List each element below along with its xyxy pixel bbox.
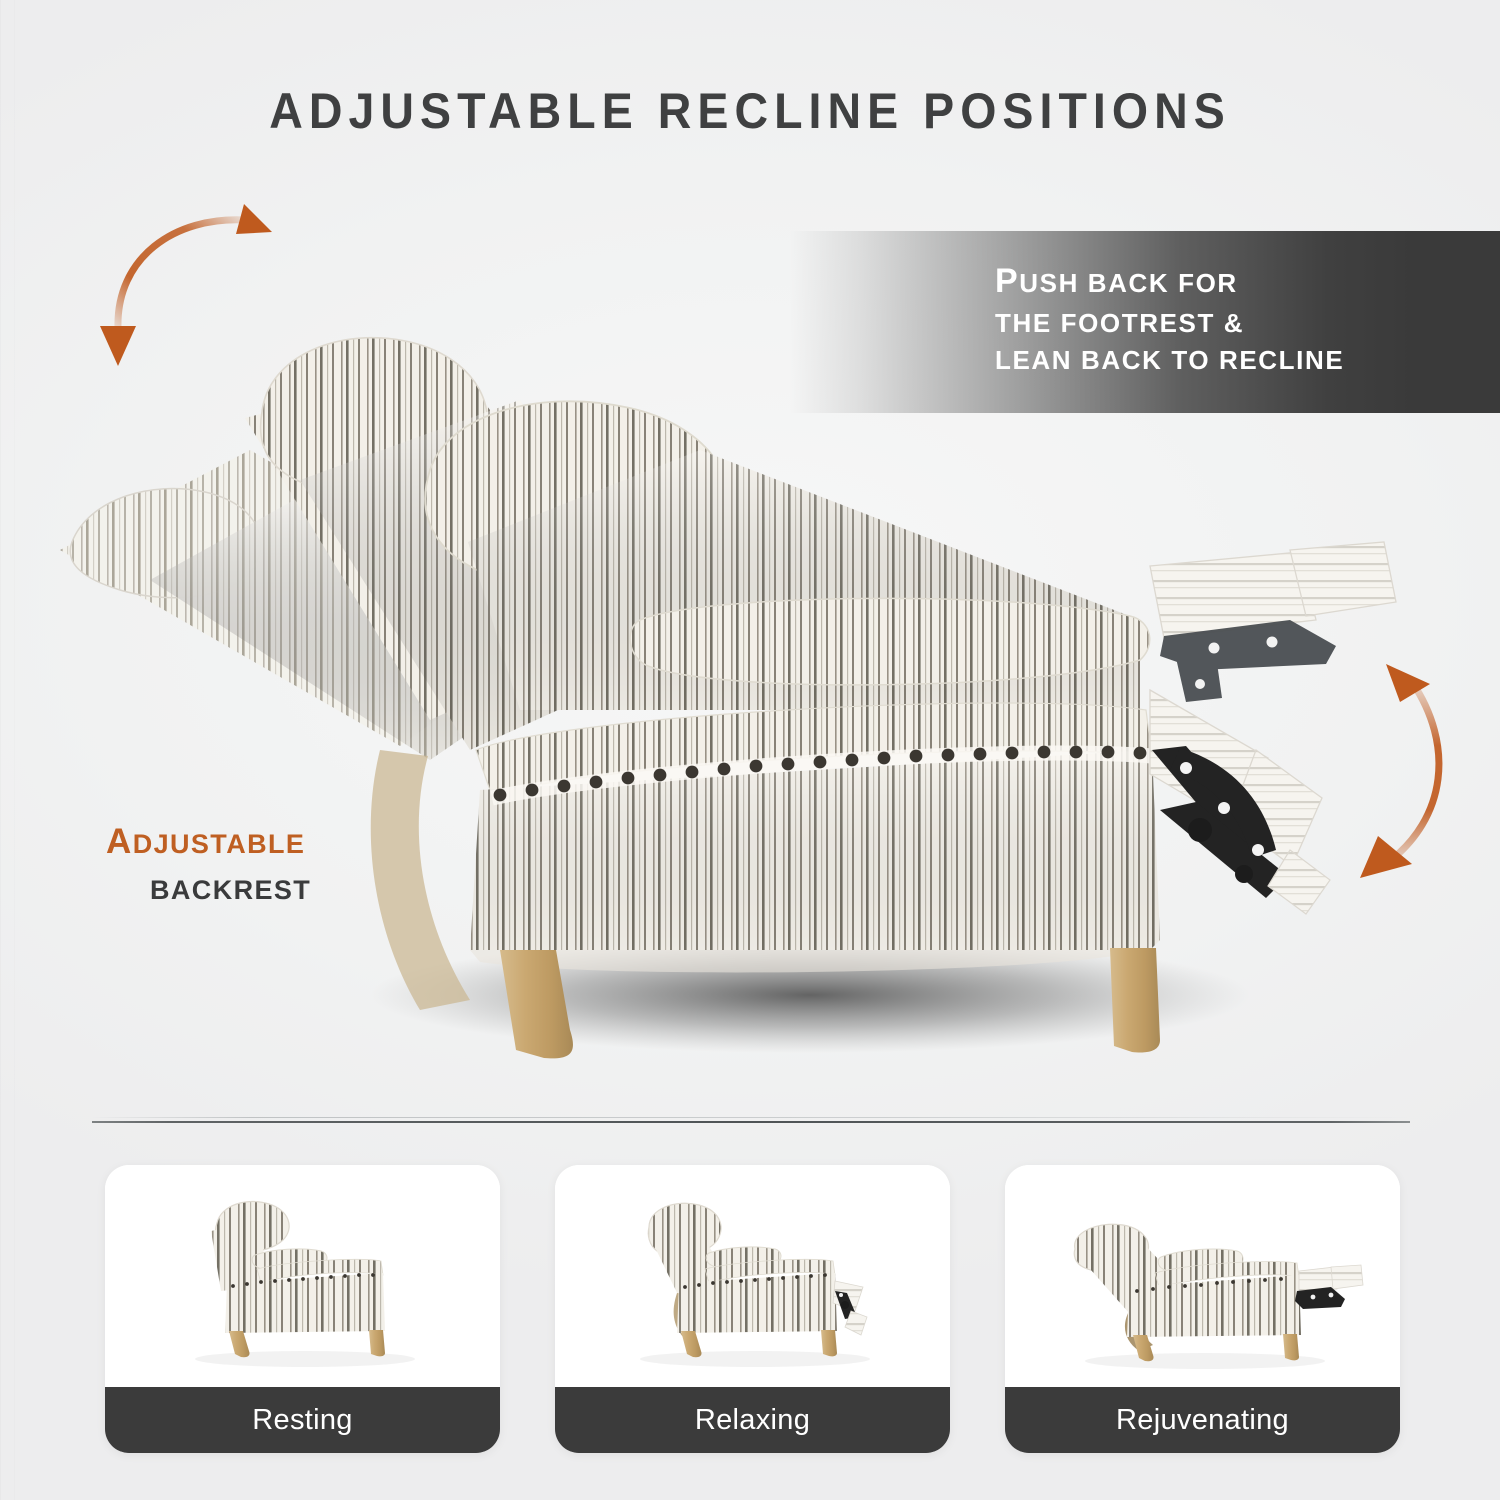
instruction-banner: PUSH BACK FOR THE FOOTREST & LEAN BACK T…: [790, 231, 1500, 413]
instruction-line-1-cap: P: [995, 262, 1019, 300]
instruction-line-1-rest: USH BACK FOR: [1019, 268, 1238, 298]
chair-body: [470, 703, 1160, 972]
curved-arrow-left-icon: [78, 186, 308, 376]
position-card-rejuvenating[interactable]: Rejuvenating: [1005, 1165, 1400, 1453]
seat-back-roll: [630, 598, 1150, 685]
backrest-label-cap: A: [106, 822, 133, 861]
section-divider: [92, 1121, 1410, 1123]
chair-partial-recline-icon: [555, 1165, 950, 1387]
arrowhead-bottom: [100, 326, 136, 366]
footrest-extend-arrow: [1338, 628, 1500, 893]
card-image-resting: [105, 1165, 500, 1387]
page-title: ADJUSTABLE RECLINE POSITIONS: [53, 82, 1448, 140]
instruction-line-3: LEAN BACK TO RECLINE: [995, 342, 1495, 379]
position-card-relaxing[interactable]: Relaxing: [555, 1165, 950, 1453]
card-image-relaxing: [555, 1165, 950, 1387]
footrest-lower-position: [1150, 690, 1330, 914]
rear-leg: [1110, 948, 1160, 1053]
infographic-root: ADJUSTABLE RECLINE POSITIONS: [0, 0, 1500, 1500]
chair-upright-icon: [105, 1165, 500, 1387]
card-label-relaxing: Relaxing: [555, 1387, 950, 1453]
backrest-label-rest: DJUSTABLE: [133, 829, 306, 859]
divider-highlight: [92, 1117, 1410, 1118]
chair-full-recline-icon: [1005, 1165, 1400, 1387]
backrest-label-line-2: BACKREST: [106, 872, 426, 909]
curved-arrow-right-icon: [1338, 628, 1500, 893]
backrest-label-line-1: ADJUSTABLE: [106, 818, 426, 866]
instruction-line-1: PUSH BACK FOR: [995, 257, 1495, 305]
position-cards: Resting: [105, 1165, 1400, 1453]
arrowhead-top: [236, 204, 272, 234]
card-label-rejuvenating: Rejuvenating: [1005, 1387, 1400, 1453]
arrowhead-bottom: [1360, 836, 1412, 878]
adjustable-backrest-label: ADJUSTABLE BACKREST: [106, 818, 426, 910]
backrest-recline-arrow: [78, 186, 308, 376]
card-label-resting: Resting: [105, 1387, 500, 1453]
instruction-line-2: THE FOOTREST &: [995, 305, 1495, 342]
card-image-rejuvenating: [1005, 1165, 1400, 1387]
position-card-resting[interactable]: Resting: [105, 1165, 500, 1453]
instruction-banner-text: PUSH BACK FOR THE FOOTREST & LEAN BACK T…: [995, 257, 1495, 379]
